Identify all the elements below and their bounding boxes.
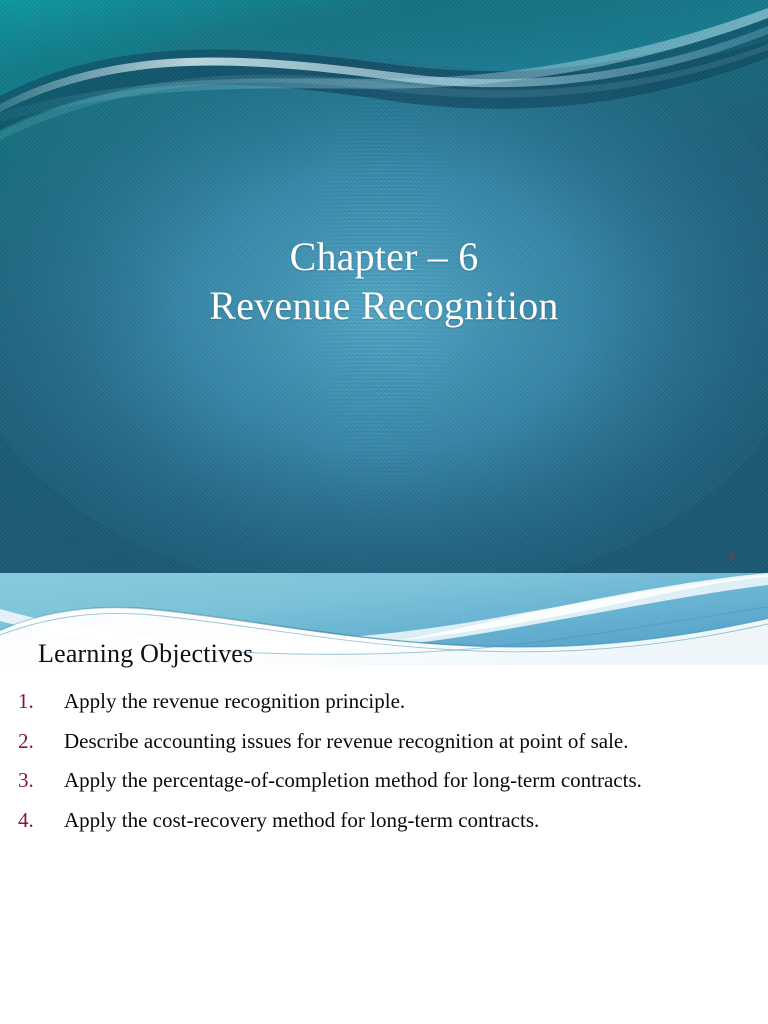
list-item: 3. Apply the percentage-of-completion me… (0, 766, 768, 795)
title-slide-background (0, 0, 768, 573)
title-slide: Chapter – 6 Revenue Recognition 1 (0, 0, 768, 573)
list-item: 1. Apply the revenue recognition princip… (0, 687, 768, 716)
list-item-text: Apply the cost-recovery method for long-… (64, 806, 746, 835)
list-item-number: 2. (14, 727, 64, 756)
list-item: 2. Describe accounting issues for revenu… (0, 727, 768, 756)
list-item: 4. Apply the cost-recovery method for lo… (0, 806, 768, 835)
list-item-number: 1. (14, 687, 64, 716)
learning-objectives-list: 1. Apply the revenue recognition princip… (0, 687, 768, 845)
page-title: Learning Objectives (38, 639, 253, 669)
list-item-number: 4. (14, 806, 64, 835)
slide-deck: Chapter – 6 Revenue Recognition 1 (0, 0, 768, 1024)
list-item-text: Describe accounting issues for revenue r… (64, 727, 746, 756)
list-item-text: Apply the revenue recognition principle. (64, 687, 746, 716)
list-item-number: 3. (14, 766, 64, 795)
slide-number: 1 (729, 552, 735, 563)
learning-objectives-slide: Learning Objectives 1. Apply the revenue… (0, 573, 768, 1024)
list-item-text: Apply the percentage-of-completion metho… (64, 766, 746, 795)
